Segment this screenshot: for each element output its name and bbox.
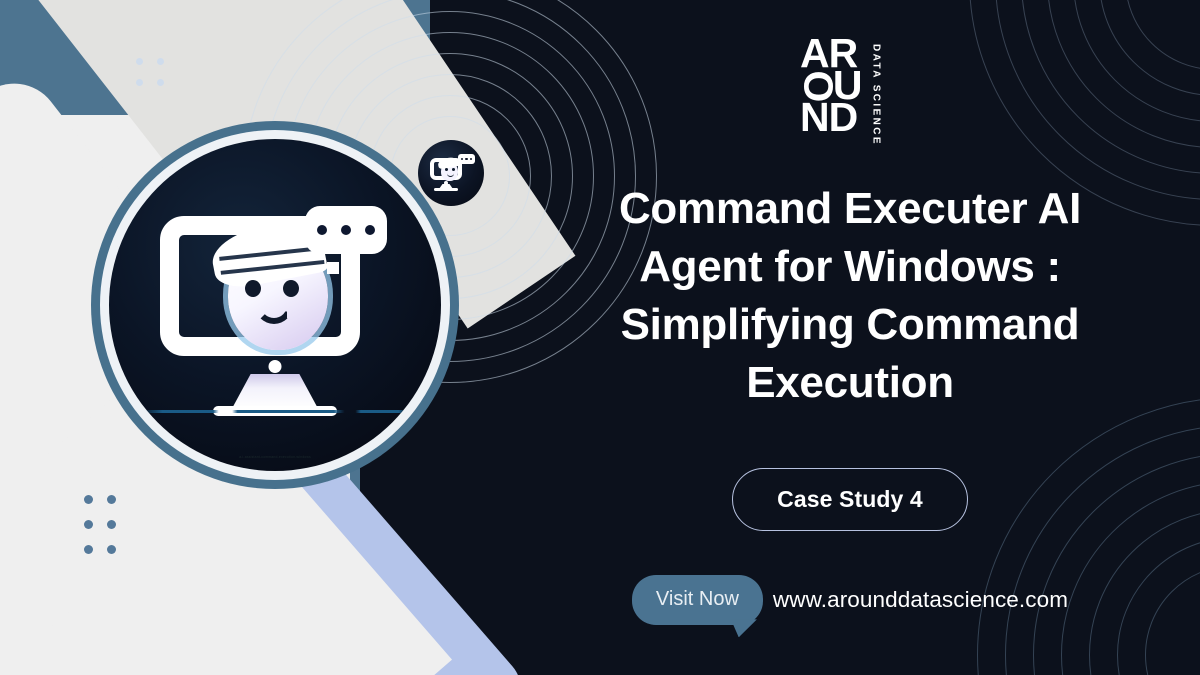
badge-wrap: Case Study 4 bbox=[580, 468, 1120, 531]
mini-bubble-dot bbox=[470, 158, 473, 161]
monitor-stand-icon bbox=[232, 374, 318, 409]
dot bbox=[84, 520, 93, 529]
illustration-caption: a-i-assistant-command-execution-windows bbox=[109, 455, 441, 459]
mini-base-icon bbox=[434, 188, 458, 191]
bubble-dot bbox=[365, 225, 375, 235]
mini-bubble-dot bbox=[465, 158, 468, 161]
mini-speech-bubble-icon bbox=[458, 154, 475, 164]
dot bbox=[84, 495, 93, 504]
case-study-badge[interactable]: Case Study 4 bbox=[732, 468, 968, 531]
hero-illustration-circle: a-i-assistant-command-execution-windows bbox=[100, 130, 450, 480]
eye-right-icon bbox=[283, 280, 299, 297]
hero-illustration-inner: a-i-assistant-command-execution-windows bbox=[109, 139, 441, 471]
content-column: Command Executer AI Agent for Windows : … bbox=[580, 180, 1120, 625]
eye-left-icon bbox=[245, 280, 261, 297]
mini-assistant-icon bbox=[428, 152, 474, 194]
mini-eye-right-icon bbox=[452, 168, 455, 171]
monitor-power-dot-icon bbox=[269, 360, 282, 373]
poster-canvas: a-i-assistant-command-execution-windows … bbox=[0, 0, 1200, 675]
dot bbox=[157, 58, 164, 65]
logo-row-nd: ND bbox=[800, 102, 862, 134]
dot bbox=[136, 58, 143, 65]
bubble-dot bbox=[317, 225, 327, 235]
cta-row: Visit Now www.arounddatascience.com bbox=[580, 575, 1120, 625]
dot bbox=[157, 79, 164, 86]
dot-grid-bottom bbox=[84, 495, 114, 554]
ai-assistant-monitor-icon bbox=[150, 188, 400, 423]
dot bbox=[107, 520, 116, 529]
dot bbox=[136, 79, 143, 86]
dot bbox=[84, 545, 93, 554]
logo-tagline: DATA SCIENCE bbox=[871, 44, 882, 146]
dot bbox=[107, 545, 116, 554]
badge-assistant-icon bbox=[418, 140, 484, 206]
dot bbox=[107, 495, 116, 504]
logo-letter-o-rotated: O bbox=[801, 71, 833, 102]
page-title: Command Executer AI Agent for Windows : … bbox=[580, 180, 1120, 412]
shelf-line bbox=[141, 410, 409, 413]
dot-grid-top bbox=[136, 58, 164, 86]
speech-bubble-icon bbox=[305, 206, 387, 254]
mini-eye-left-icon bbox=[445, 168, 448, 171]
brand-logo[interactable]: AR OU ND DATA SCIENCE bbox=[800, 38, 882, 146]
website-url[interactable]: www.arounddatascience.com bbox=[773, 587, 1068, 613]
logo-wordmark: AR OU ND bbox=[800, 38, 862, 134]
visit-now-button[interactable]: Visit Now bbox=[632, 575, 763, 625]
bubble-dot bbox=[341, 225, 351, 235]
mini-bubble-dot bbox=[461, 158, 464, 161]
